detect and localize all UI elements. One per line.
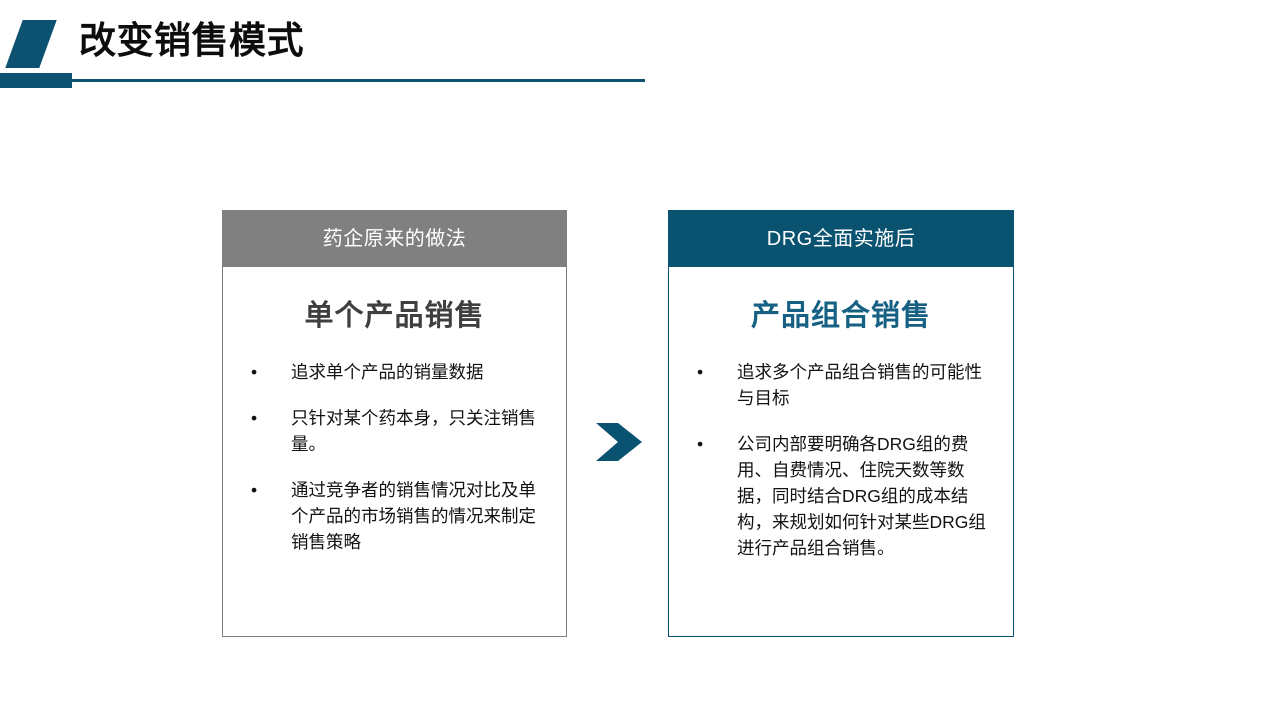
list-item: • 通过竞争者的销售情况对比及单个产品的市场销售的情况来制定销售策略 (251, 477, 540, 555)
card-header-label-before: 药企原来的做法 (323, 228, 467, 250)
bullet-text: 追求多个产品组合销售的可能性与目标 (697, 359, 991, 411)
bullet-marker-icon: • (251, 359, 265, 385)
page-title: 改变销售模式 (79, 18, 304, 64)
card-header-after: DRG全面实施后 (668, 210, 1014, 267)
card-header-label-after: DRG全面实施后 (767, 228, 915, 250)
slide-title-block: 改变销售模式 (0, 0, 1280, 95)
list-item: • 公司内部要明确各DRG组的费用、自费情况、住院天数等数据，同时结合DRG组的… (697, 431, 991, 561)
list-item: • 追求单个产品的销量数据 (251, 359, 540, 385)
chevron-right-arrow-icon (596, 423, 642, 461)
list-item: • 追求多个产品组合销售的可能性与目标 (697, 359, 991, 411)
bullet-list-after: • 追求多个产品组合销售的可能性与目标 • 公司内部要明确各DRG组的费用、自费… (691, 359, 991, 561)
card-body-after: 产品组合销售 • 追求多个产品组合销售的可能性与目标 • 公司内部要明确各DRG… (668, 267, 1014, 637)
list-item: • 只针对某个药本身，只关注销售量。 (251, 405, 540, 457)
bullet-list-before: • 追求单个产品的销量数据 • 只针对某个药本身，只关注销售量。 • 通过竞争者… (245, 359, 544, 555)
bullet-marker-icon: • (697, 359, 711, 385)
comparison-card-before: 药企原来的做法 单个产品销售 • 追求单个产品的销量数据 • 只针对某个药本身，… (222, 210, 567, 637)
title-slash-decoration-icon (5, 20, 56, 68)
bullet-marker-icon: • (251, 477, 265, 503)
bullet-text: 只针对某个药本身，只关注销售量。 (251, 405, 540, 457)
card-heading-before: 单个产品销售 (245, 299, 544, 333)
bullet-marker-icon: • (697, 431, 711, 457)
card-heading-after: 产品组合销售 (691, 299, 991, 333)
comparison-card-after: DRG全面实施后 产品组合销售 • 追求多个产品组合销售的可能性与目标 • 公司… (668, 210, 1014, 637)
card-body-before: 单个产品销售 • 追求单个产品的销量数据 • 只针对某个药本身，只关注销售量。 … (222, 267, 567, 637)
bullet-text: 公司内部要明确各DRG组的费用、自费情况、住院天数等数据，同时结合DRG组的成本… (697, 431, 991, 561)
title-underline-thick-bar (0, 73, 72, 88)
title-underline-thin-rule (72, 79, 645, 82)
bullet-text: 通过竞争者的销售情况对比及单个产品的市场销售的情况来制定销售策略 (251, 477, 540, 555)
bullet-marker-icon: • (251, 405, 265, 431)
card-header-before: 药企原来的做法 (222, 210, 567, 267)
bullet-text: 追求单个产品的销量数据 (251, 359, 540, 385)
